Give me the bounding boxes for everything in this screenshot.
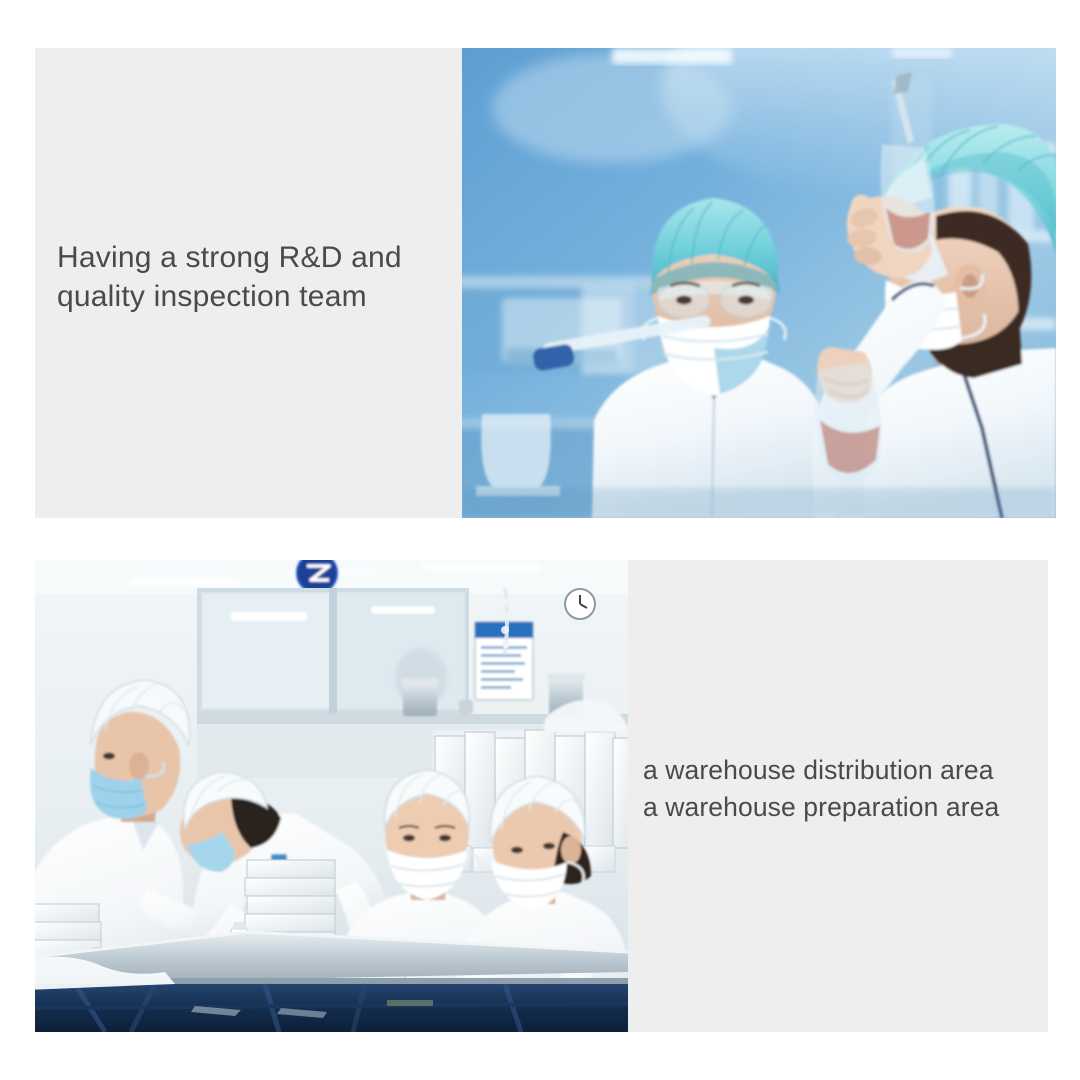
- warehouse-packing-illustration: [35, 560, 628, 1032]
- photo-lab-inspection: [462, 48, 1056, 518]
- caption-warehouse: a warehouse distribution area a warehous…: [643, 752, 1063, 826]
- photo-warehouse-packing: [35, 560, 628, 1032]
- wall-clock: [565, 589, 595, 619]
- lab-inspection-illustration: [462, 48, 1056, 518]
- section-warehouse: a warehouse distribution area a warehous…: [35, 560, 1048, 1032]
- caption-rnd-quality: Having a strong R&D and quality inspecti…: [57, 238, 457, 316]
- section-rnd-quality: Having a strong R&D and quality inspecti…: [35, 48, 1056, 518]
